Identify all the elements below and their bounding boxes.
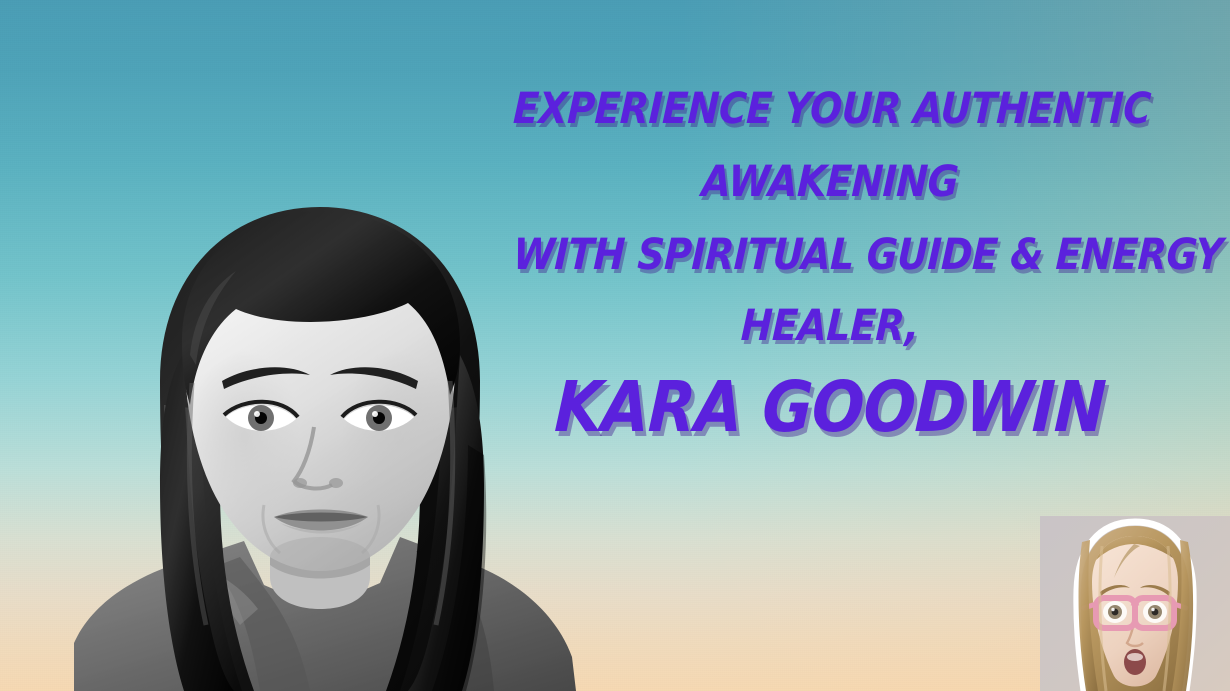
overlay-person-webcam <box>1040 516 1230 691</box>
headline-line-3: WITH SPIRITUAL GUIDE & ENERGY <box>512 234 1148 277</box>
guest-name-title: KARA GOODWIN <box>512 372 1149 442</box>
headline-line-2: AWAKENING <box>512 161 1148 204</box>
video-thumbnail-canvas: EXPERIENCE YOUR AUTHENTIC AWAKENING WITH… <box>0 0 1230 691</box>
headline-line-1: EXPERIENCE YOUR AUTHENTIC <box>512 88 1148 131</box>
overlay-mouth <box>1124 649 1146 675</box>
headline-line-4: HEALER, <box>512 305 1148 348</box>
main-portrait-photo <box>64 205 584 691</box>
